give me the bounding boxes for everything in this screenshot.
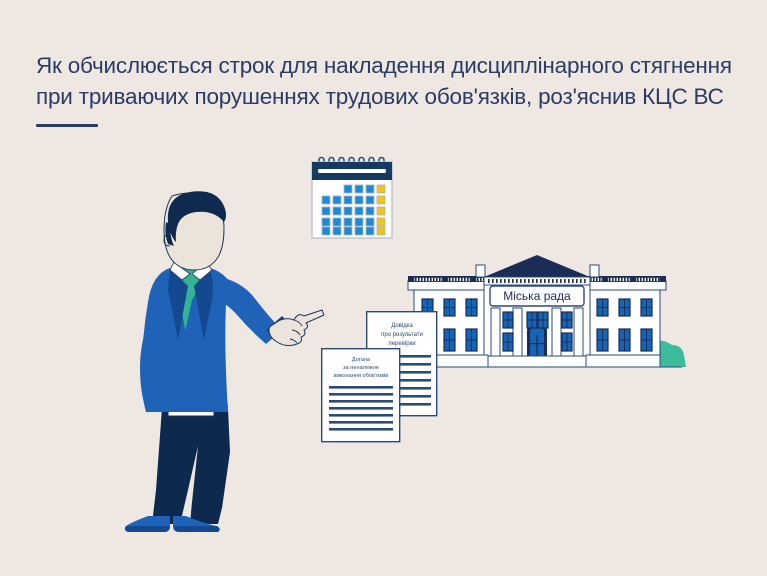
building-sign: Міська рада bbox=[490, 286, 584, 306]
document-title-line-3: перевірки bbox=[388, 341, 415, 347]
calendar bbox=[306, 156, 398, 240]
illustration-canvas: Як обчислюється строк для накладення дис… bbox=[0, 0, 767, 576]
title-underline-rule bbox=[36, 124, 98, 127]
pointing-businessman bbox=[118, 190, 318, 530]
page-title-line-1: Як обчислюється строк для накладення дис… bbox=[36, 50, 726, 81]
pointing-hand bbox=[269, 310, 324, 346]
page-title: Як обчислюється строк для накладення дис… bbox=[36, 50, 726, 112]
document-title-line-1: Догана bbox=[352, 357, 371, 363]
building-sign-label: Міська рада bbox=[503, 289, 571, 303]
document-title-line-1: Довідка bbox=[391, 323, 413, 329]
document-reprimand-order: Догана за неналежне виконання обов'язків bbox=[321, 348, 401, 443]
trousers bbox=[152, 408, 230, 524]
page-title-line-2: при триваючих порушеннях трудових обов'я… bbox=[36, 81, 726, 112]
document-title-line-3: виконання обов'язків bbox=[334, 373, 388, 379]
document-title-line-2: за неналежне bbox=[343, 365, 379, 371]
document-title-line-2: про результати bbox=[381, 332, 423, 338]
